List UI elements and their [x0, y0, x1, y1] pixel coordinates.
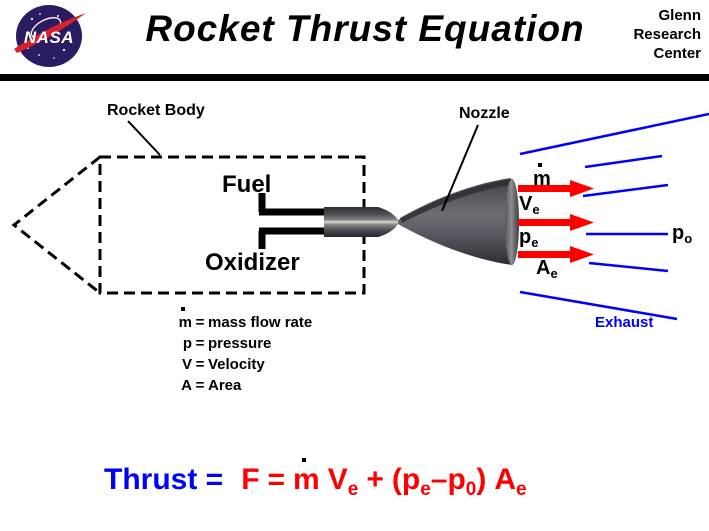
- legend-definition: pressure: [208, 335, 271, 352]
- legend-definition: Velocity: [208, 356, 265, 373]
- minus-sign: –: [431, 463, 448, 496]
- nozzle-label: Nozzle: [459, 105, 510, 123]
- legend-definition: mass flow rate: [208, 314, 312, 331]
- exit-area-symbol: Ae: [536, 257, 558, 280]
- oxidizer-feed-pipe: [259, 231, 326, 249]
- center-line-1: Glenn: [597, 6, 701, 25]
- plus-sign: +: [366, 463, 384, 496]
- exit-pressure-subscript: e: [420, 479, 431, 500]
- center-line-2: Research: [597, 25, 701, 44]
- free-stream-pressure-symbol: po: [672, 222, 692, 245]
- svg-text:NASA: NASA: [24, 28, 74, 47]
- nozzle-bell: [398, 179, 512, 265]
- exhaust-label: Exhaust: [595, 314, 653, 331]
- fuel-label: Fuel: [222, 171, 271, 199]
- equation-label: Thrust =: [104, 463, 223, 496]
- overdot-marker: [181, 307, 185, 311]
- nozzle-throat: [378, 207, 398, 237]
- legend-symbol: A: [172, 375, 192, 396]
- header-divider: [0, 74, 709, 81]
- exit-area-subscript: e: [516, 479, 527, 500]
- exit-pressure-term: p: [402, 463, 420, 496]
- equation-expression: F=mVe+(pe–p0)Ae: [241, 463, 526, 496]
- nozzle-exit-plane: [505, 179, 519, 265]
- legend-definition: Area: [208, 377, 241, 394]
- thrust-equation: Thrust =F=mVe+(pe–p0)Ae: [104, 463, 527, 497]
- ambient-pressure-subscript: 0: [466, 479, 477, 500]
- exit-velocity-term: V: [328, 463, 348, 496]
- rocket-body-leader-line: [128, 121, 160, 155]
- oxidizer-label: Oxidizer: [205, 249, 300, 277]
- exit-velocity-symbol: Ve: [519, 193, 540, 216]
- legend-equals: =: [192, 333, 208, 354]
- mass-flow-rate-symbol: m: [533, 168, 551, 191]
- rocket-nose-cone: [14, 157, 100, 293]
- open-paren: (: [392, 463, 402, 496]
- close-paren: ): [476, 463, 486, 496]
- overdot-marker: [538, 163, 542, 167]
- legend-row: m=mass flow rate: [172, 312, 312, 333]
- legend-equals: =: [192, 312, 208, 333]
- overdot-marker: [302, 458, 306, 462]
- center-line-3: Center: [597, 44, 701, 63]
- rocket-diagram: Rocket Body Nozzle Fuel Oxidizer m Ve pe…: [0, 81, 709, 441]
- equals-sign: =: [268, 463, 286, 496]
- ambient-pressure-term: p: [447, 463, 465, 496]
- combustion-chamber: [324, 207, 378, 237]
- exit-pressure-symbol: pe: [519, 226, 538, 249]
- legend-symbol: p: [172, 333, 192, 354]
- rocket-body-label: Rocket Body: [107, 102, 205, 120]
- legend-equals: =: [192, 354, 208, 375]
- legend-equals: =: [192, 375, 208, 396]
- mass-flow-rate-term: m: [293, 463, 320, 497]
- variable-legend: m=mass flow rate p=pressure V=Velocity A…: [172, 312, 312, 396]
- legend-symbol: V: [172, 354, 192, 375]
- nasa-meatball-logo: NASA: [6, 3, 92, 69]
- legend-symbol: m: [172, 312, 192, 333]
- legend-row: p=pressure: [172, 333, 312, 354]
- force-symbol: F: [241, 463, 259, 496]
- legend-row: V=Velocity: [172, 354, 312, 375]
- exit-velocity-subscript: e: [348, 479, 359, 500]
- legend-row: A=Area: [172, 375, 312, 396]
- research-center-name: Glenn Research Center: [597, 6, 701, 63]
- exit-area-term: A: [494, 463, 516, 496]
- page-title: Rocket Thrust Equation: [140, 8, 590, 50]
- rocket-thrust-equation-slide: NASA Rocket Thrust Equation Glenn Resear…: [0, 0, 709, 531]
- exhaust-flow-lines: [520, 114, 709, 319]
